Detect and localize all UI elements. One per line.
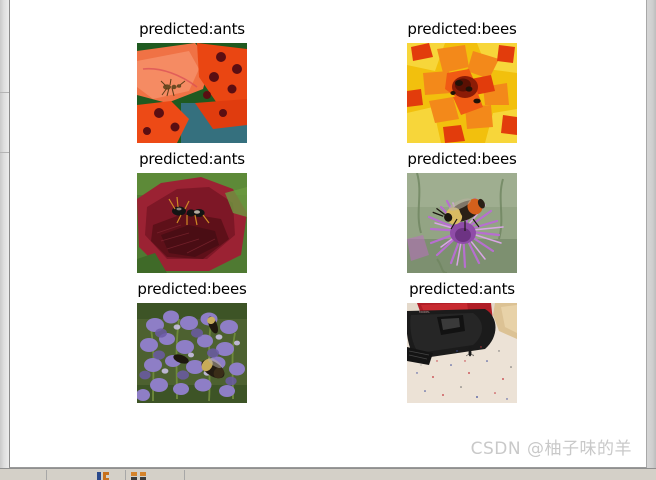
prediction-cell: predicted:ants [337, 280, 587, 403]
ic-icon[interactable] [97, 472, 111, 480]
prediction-thumbnail-ant-on-lily [137, 43, 247, 143]
prediction-figure-grid: predicted:ants [10, 0, 647, 440]
taskbar-divider [184, 470, 185, 480]
prediction-label: predicted:bees [337, 150, 587, 168]
taskbar-divider [125, 470, 126, 480]
svg-text:MODEL: MODEL [419, 310, 430, 314]
panel-right-edge [647, 0, 656, 468]
prediction-label: predicted:bees [337, 20, 587, 38]
prediction-cell: predicted:bees [67, 280, 317, 403]
prediction-cell: predicted:bees [337, 150, 587, 273]
taskbar [0, 468, 656, 480]
prediction-label: predicted:ants [67, 20, 317, 38]
prediction-cell: predicted:ants [67, 150, 317, 273]
prediction-thumbnail-bees-on-lavender [137, 303, 247, 403]
notebook-output-panel: predicted:ants [9, 0, 647, 468]
prediction-thumbnail-bee-on-knapweed [407, 173, 517, 273]
csdn-watermark: CSDN @柚子味的羊 [471, 434, 632, 459]
prediction-label: predicted:ants [337, 280, 587, 298]
prediction-thumbnail-ant-on-counter: MODEL [407, 303, 517, 403]
prediction-cell: predicted:bees [337, 20, 587, 143]
prediction-label: predicted:ants [67, 150, 317, 168]
apps-grid-icon[interactable] [131, 472, 147, 480]
prediction-cell: predicted:ants [67, 20, 317, 143]
prediction-thumbnail-ant-on-bud [137, 173, 247, 273]
prediction-label: predicted:bees [67, 280, 317, 298]
screenshot-root: predicted:ants [0, 0, 656, 480]
taskbar-divider [46, 470, 47, 480]
prediction-thumbnail-bee-on-dahlia [407, 43, 517, 143]
